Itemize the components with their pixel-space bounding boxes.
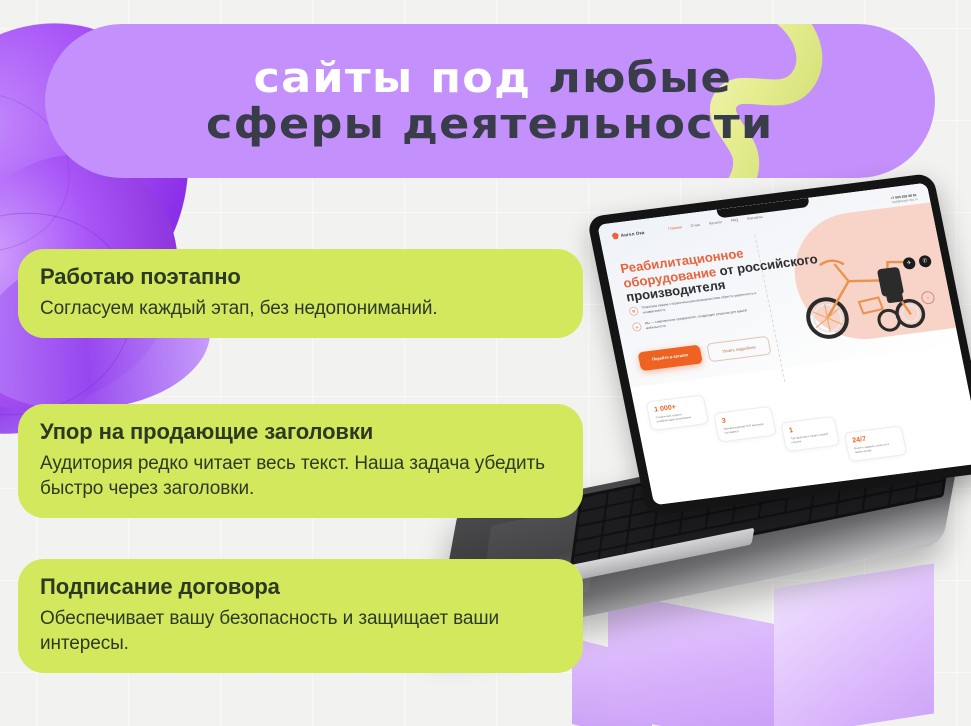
feature-card-body: Согласуем каждый этап, без недопониманий…: [40, 296, 561, 321]
logo-mark-icon: [611, 232, 619, 240]
stat-card: 1 Год гарантии и защиты вашей покупки: [780, 416, 840, 452]
headline-word-white: сайты под: [254, 53, 532, 102]
headline-text: сайты под любые сферы деятельности: [45, 24, 935, 178]
stat-card: 24/7 Можете задавать вопросы в любое вре…: [844, 425, 908, 461]
feature-card-body: Обеспечивает вашу безопасность и защищае…: [40, 606, 561, 657]
feature-card-1: Работаю поэтапно Согласуем каждый этап, …: [18, 249, 583, 338]
website-preview: Ангел Ока Главная О нас Каталог FAQ Конт…: [597, 183, 971, 505]
feature-card-2: Упор на продающие заголовки Аудитория ре…: [18, 404, 583, 518]
headline-word-dark: любые: [548, 53, 732, 102]
key: [837, 498, 863, 516]
nav-item-catalog[interactable]: Каталог: [709, 220, 723, 226]
laptop-screen: Ангел Ока Главная О нас Каталог FAQ Конт…: [597, 183, 971, 505]
telegram-icon[interactable]: ✈: [902, 257, 916, 270]
feature-card-title: Подписание договора: [40, 574, 561, 601]
nav-item-about[interactable]: О нас: [690, 223, 700, 228]
site-logo[interactable]: Ангел Ока: [611, 229, 645, 240]
stat-text: Год гарантии и защиты вашей покупки: [791, 432, 832, 445]
feature-card-title: Упор на продающие заголовки: [40, 419, 561, 446]
stat-text: Технических средств реабилитации произве…: [656, 411, 701, 424]
site-stats: 1 000+ Технических средств реабилитации …: [644, 362, 971, 492]
logo-text: Ангел Ока: [620, 230, 644, 238]
stat-text: Можете задавать вопросы в любое время: [854, 442, 899, 455]
stat-card: 1 000+ Технических средств реабилитации …: [646, 394, 710, 430]
laptop-lid: Ангел Ока Главная О нас Каталог FAQ Конт…: [587, 173, 971, 516]
poster-canvas: сайты под любые сферы деятельности: [0, 0, 971, 726]
nav-item-home[interactable]: Главная: [668, 225, 682, 231]
laptop-mockup: Ангел Ока Главная О нас Каталог FAQ Конт…: [398, 180, 971, 620]
phone-icon[interactable]: ✆: [918, 255, 932, 268]
nav-item-faq[interactable]: FAQ: [731, 218, 739, 223]
key: [864, 492, 890, 510]
key: [917, 482, 943, 500]
bullet-icon: [632, 322, 643, 332]
feature-card-body: Аудитория редко читает весь текст. Наша …: [40, 451, 561, 502]
bullet-icon: [628, 306, 639, 316]
feature-card-title: Работаю поэтапно: [40, 264, 561, 291]
site-contacts: +7 900 258 98 81 mail@angel-oka.ru: [890, 193, 918, 204]
site-menu: Главная О нас Каталог FAQ Контакты: [668, 215, 763, 231]
headline-line-2: сферы деятельности: [206, 102, 774, 146]
headline-line-1: сайты под любые: [254, 56, 733, 100]
nav-item-contacts[interactable]: Контакты: [747, 215, 763, 221]
stat-card: 3 Линейки изделий ТСР, имеющих сертифика…: [713, 406, 777, 442]
stat-text: Линейки изделий ТСР, имеющих сертификат: [723, 422, 768, 435]
feature-card-3: Подписание договора Обеспечивает вашу бе…: [18, 559, 583, 673]
key: [890, 487, 916, 505]
key: [811, 503, 837, 521]
